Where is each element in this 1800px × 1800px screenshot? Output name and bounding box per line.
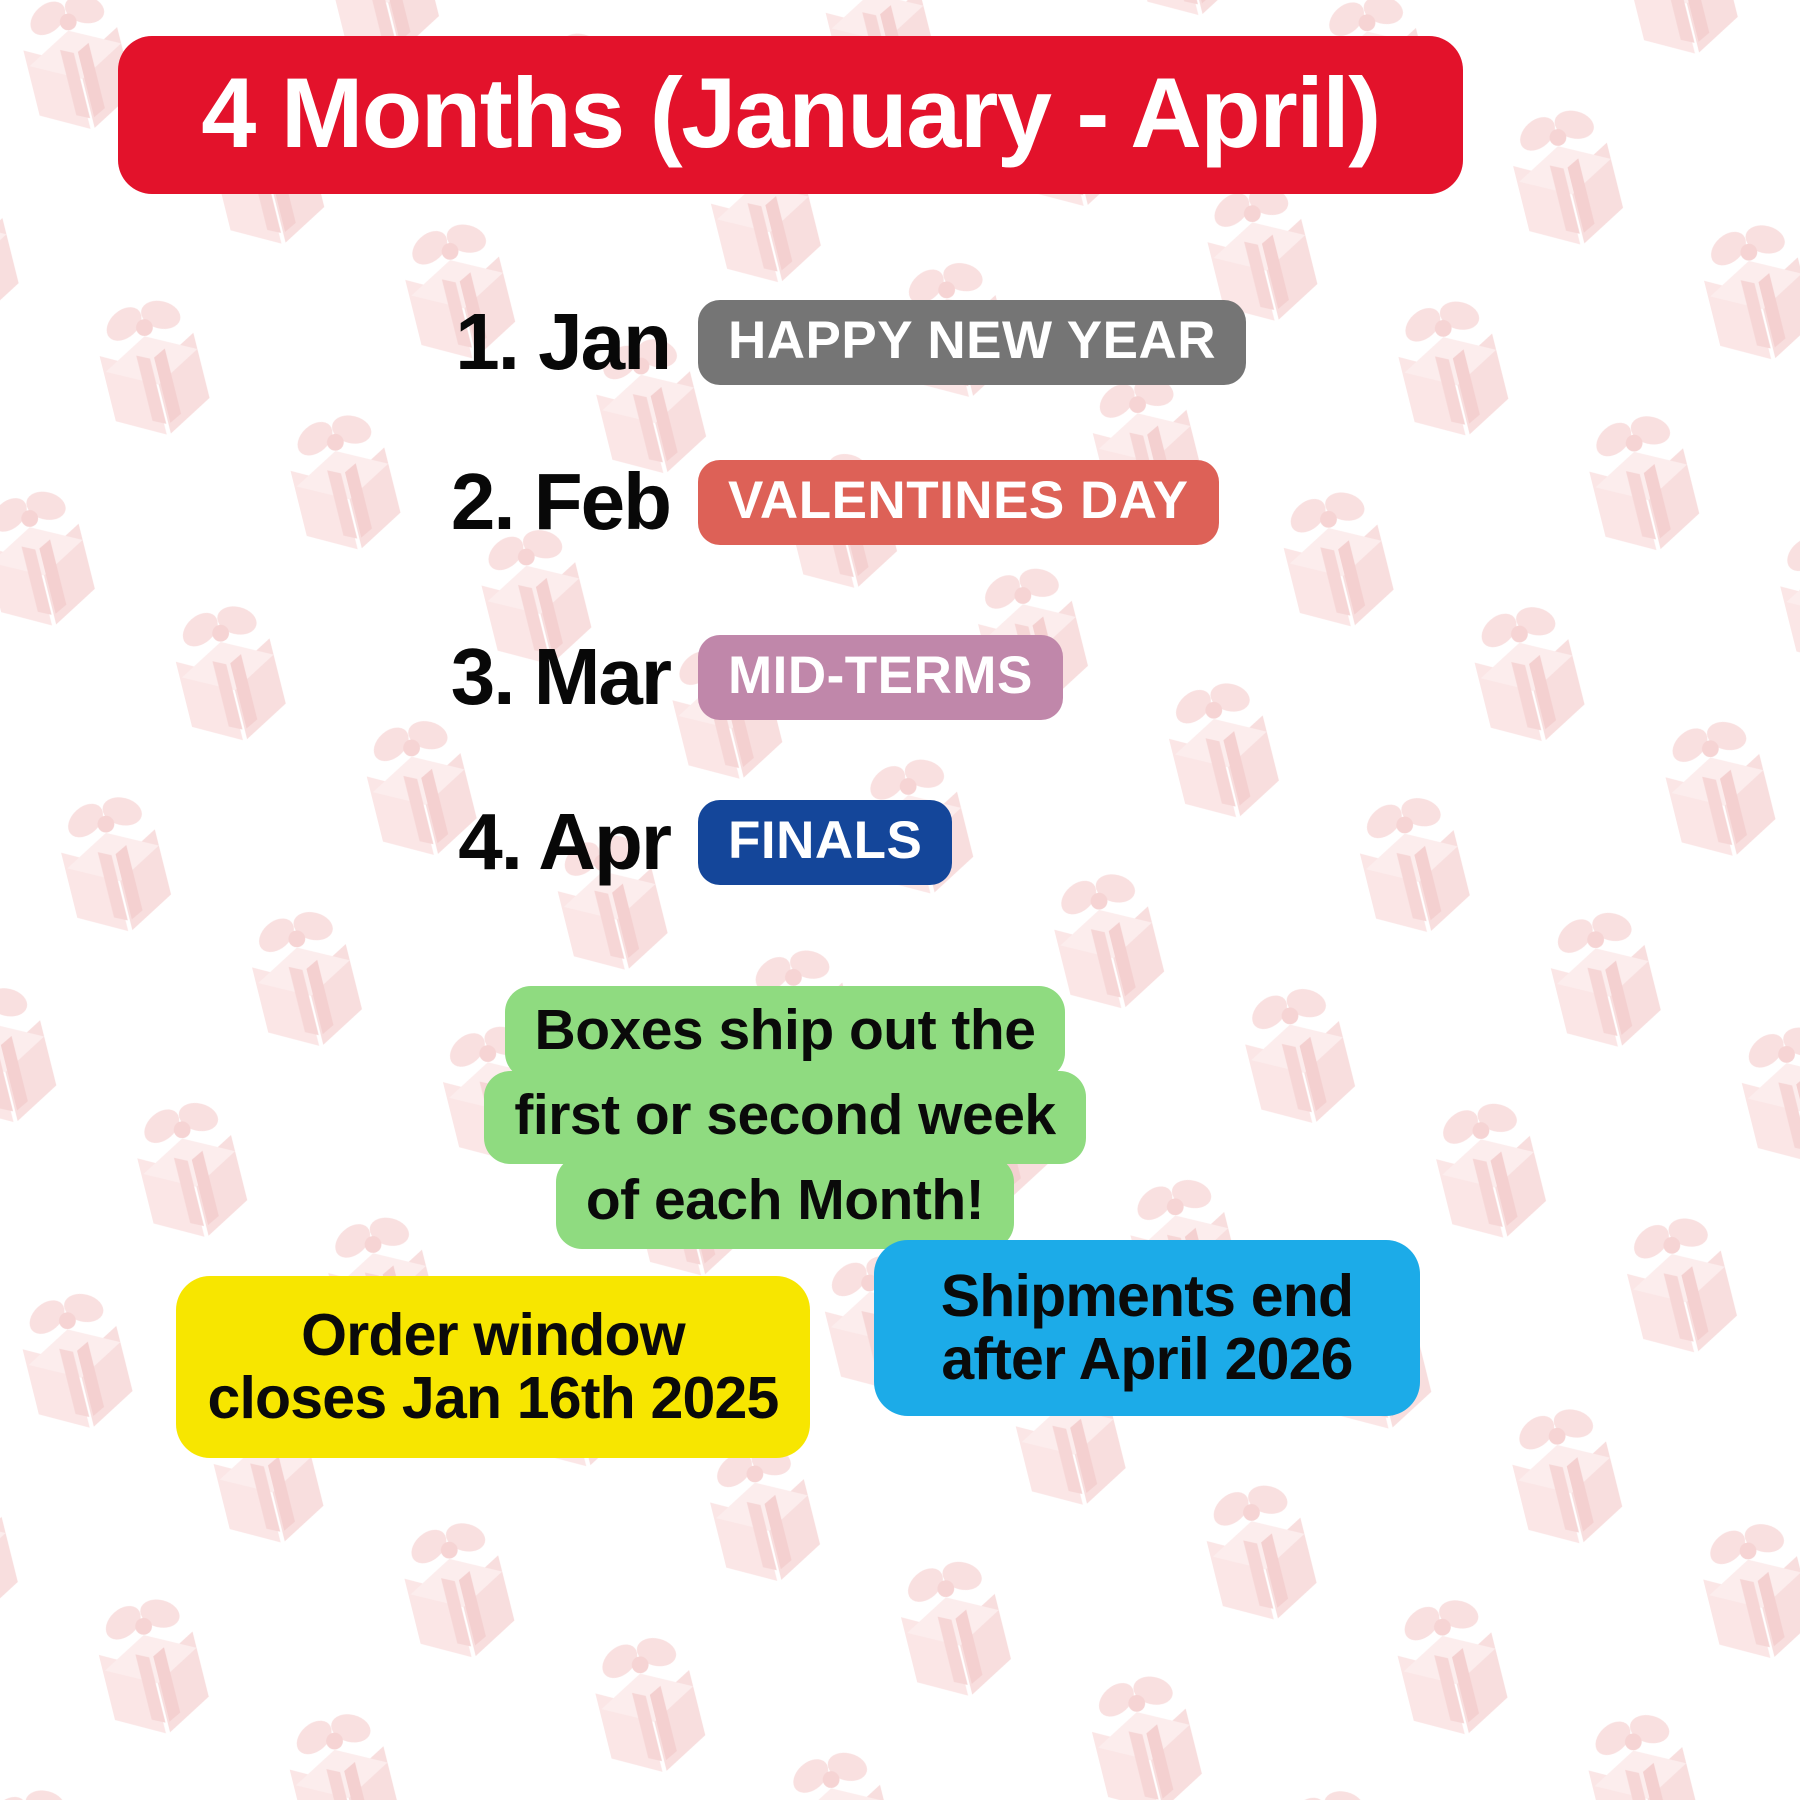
order-window-line-2: closes Jan 16th 2025 (207, 1367, 778, 1430)
title-banner: 4 Months (January - April) (118, 36, 1463, 194)
shipments-end-callout: Shipments end after April 2026 (874, 1240, 1420, 1416)
month-row-mar: 3. Mar MID-TERMS (420, 625, 1063, 729)
month-label-jan: 1. Jan (420, 302, 670, 382)
infographic-root: 4 Months (January - April) 1. Jan HAPPY … (0, 0, 1800, 1800)
month-badge-jan: HAPPY NEW YEAR (698, 300, 1246, 385)
month-label-feb: 2. Feb (420, 462, 670, 542)
page-title: 4 Months (January - April) (201, 63, 1379, 162)
month-row-feb: 2. Feb VALENTINES DAY (420, 450, 1219, 554)
month-badge-feb: VALENTINES DAY (698, 460, 1219, 545)
shipping-note-line-2: first or second week (484, 1071, 1085, 1164)
shipping-note-callout: Boxes ship out the first or second week … (470, 990, 1100, 1245)
shipments-end-line-2: after April 2026 (941, 1328, 1352, 1391)
order-window-callout: Order window closes Jan 16th 2025 (176, 1276, 810, 1458)
month-row-jan: 1. Jan HAPPY NEW YEAR (420, 290, 1246, 394)
month-badge-mar: MID-TERMS (698, 635, 1063, 720)
month-label-apr: 4. Apr (420, 802, 670, 882)
shipping-note-line-3: of each Month! (556, 1156, 1014, 1249)
month-label-mar: 3. Mar (420, 637, 670, 717)
month-row-apr: 4. Apr FINALS (420, 790, 952, 894)
order-window-line-1: Order window (301, 1304, 685, 1367)
shipping-note-line-1: Boxes ship out the (505, 986, 1066, 1079)
shipments-end-line-1: Shipments end (941, 1265, 1353, 1328)
month-badge-apr: FINALS (698, 800, 952, 885)
